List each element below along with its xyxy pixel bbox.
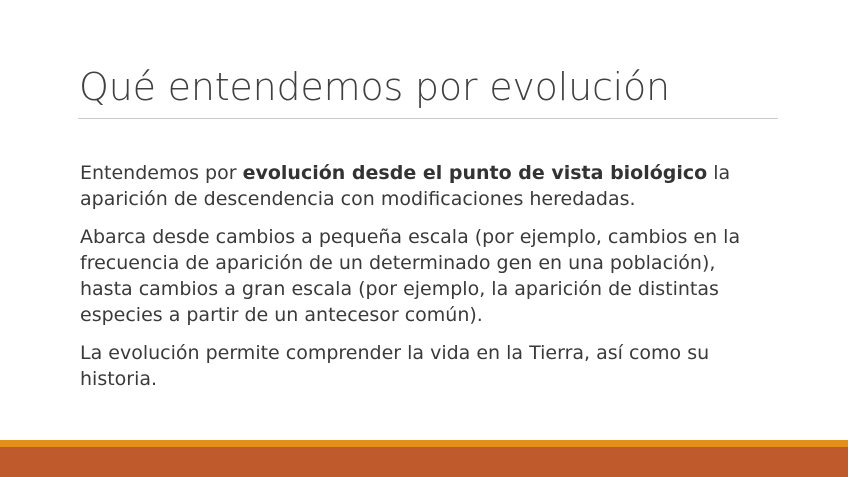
footer-accent-bar-amber	[0, 440, 848, 447]
body-paragraph: Abarca desde cambios a pequeña escala (p…	[80, 224, 768, 328]
slide-body: Entendemos por evolución desde el punto …	[80, 160, 768, 392]
page-title: Qué entendemos por evolución	[79, 64, 779, 110]
footer-accent-bar-rust	[0, 447, 848, 477]
paragraph-lead-text: La evolución permite comprender la vida …	[80, 342, 709, 390]
paragraph-lead-text: Entendemos por	[80, 162, 243, 184]
paragraph-lead-text: Abarca desde cambios a pequeña escala (p…	[80, 226, 740, 326]
title-divider	[78, 118, 778, 119]
paragraph-bold-text: evolución desde el punto de vista biológ…	[243, 162, 708, 184]
body-paragraph: La evolución permite comprender la vida …	[80, 340, 768, 392]
slide-canvas: Qué entendemos por evolución Entendemos …	[0, 0, 848, 477]
body-paragraph: Entendemos por evolución desde el punto …	[80, 160, 768, 212]
